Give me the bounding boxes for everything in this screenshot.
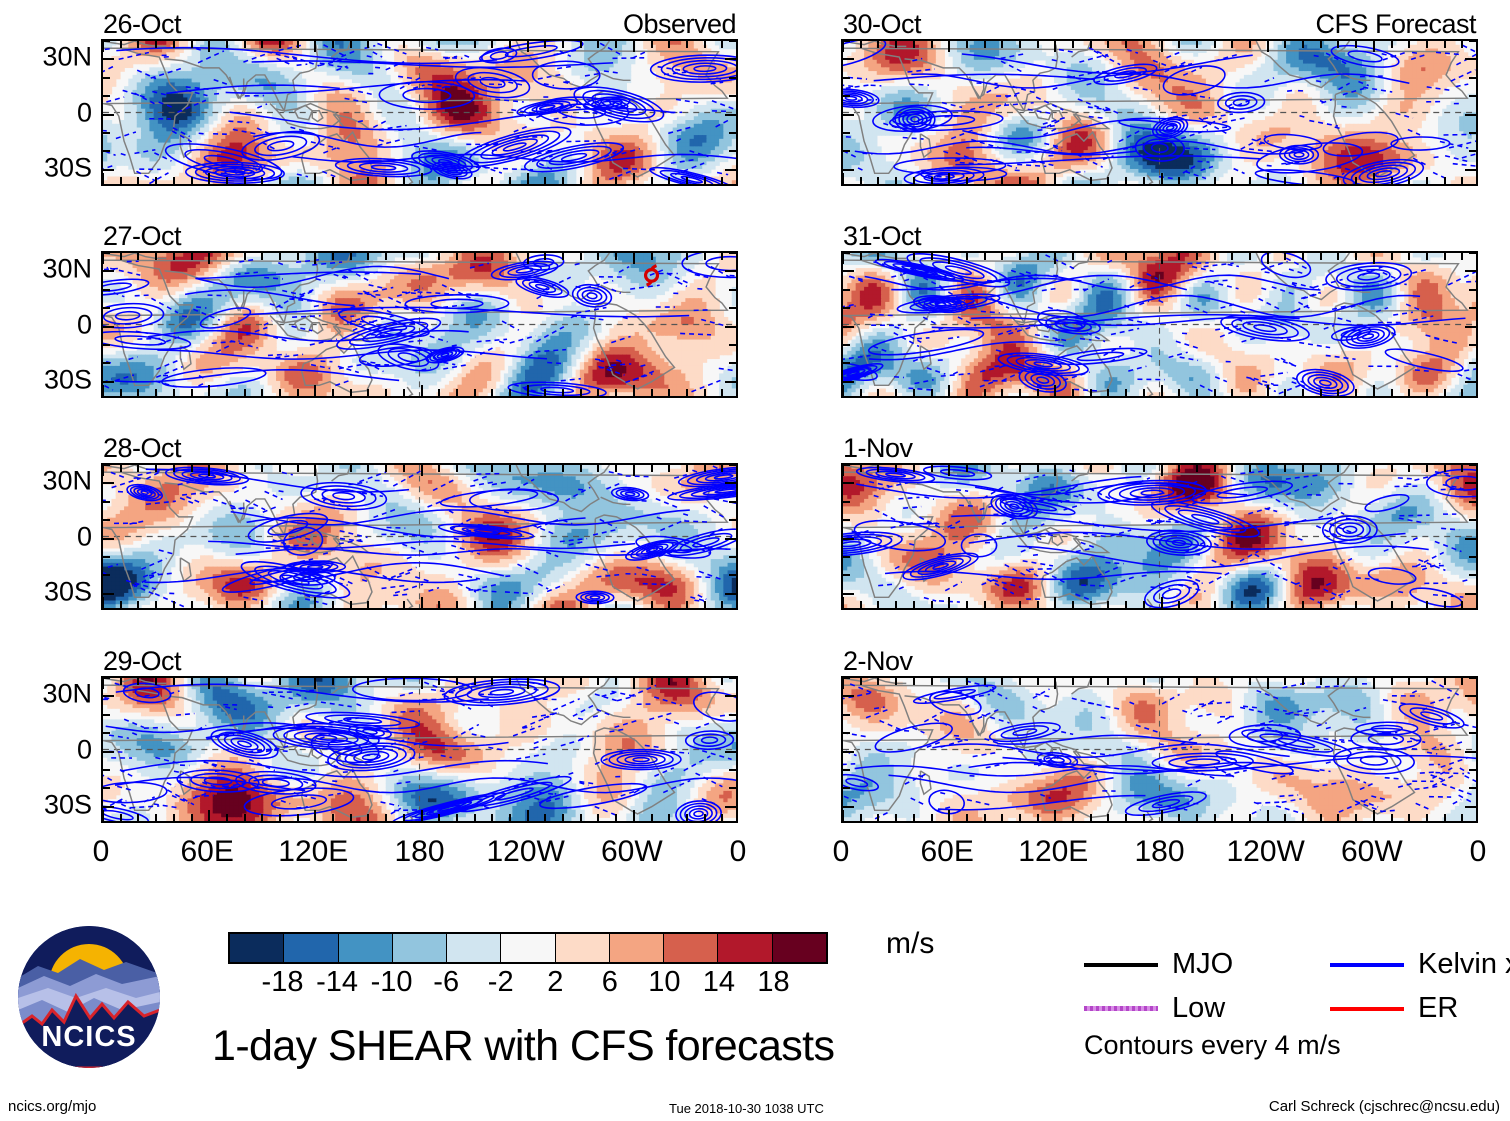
panel-date-label: 1-Nov [843,433,913,464]
y-tick-label: 30S [44,789,92,820]
x-tick-label: 0 [93,835,110,869]
x-tick-label: 120E [278,835,348,869]
legend-label: ER [1418,992,1458,1025]
panel-field [103,253,736,396]
colorbar-tick-label: -10 [371,966,413,999]
x-tick-label: 180 [1134,835,1184,869]
legend-item-low: Low [1084,992,1225,1025]
panel-field [103,41,736,184]
panel-map[interactable] [101,463,738,610]
colorbar-tick-label: 10 [648,966,680,999]
panel-date-label: 28-Oct [103,433,181,464]
y-tick-label: 30S [44,576,92,607]
y-tick-label: 0 [77,734,92,765]
x-tick-label: 60E [920,835,973,869]
footer-timestamp: Tue 2018-10-30 1038 UTC [669,1101,824,1116]
legend-label: Kelvin x2 [1418,948,1510,981]
colorbar-segment-5 [501,934,555,962]
colorbar-segment-2 [339,934,393,962]
colorbar-tick-label: 2 [547,966,563,999]
colorbar-tick-label: -2 [488,966,514,999]
legend-item-er: ER [1330,992,1458,1025]
y-tick-label: 0 [77,309,92,340]
panel-map[interactable] [841,251,1478,398]
colorbar-segment-10 [773,934,826,962]
panel-map[interactable] [101,676,738,823]
panel-date-label: 30-Oct [843,9,921,40]
colorbar-tick-label: -6 [433,966,459,999]
panel-2-nov[interactable]: 2-Nov 060E120E180120W60W0 [841,676,1478,823]
x-tick-label: 120W [1227,835,1305,869]
colorbar-segment-4 [447,934,501,962]
y-tick-label: 30S [44,152,92,183]
x-tick-label: 0 [833,835,850,869]
legend-line-swatch [1330,1007,1404,1011]
panel-field [843,41,1476,184]
panel-map[interactable] [841,39,1478,186]
colorbar-tick-label: 6 [602,966,618,999]
x-tick-label: 120E [1018,835,1088,869]
panel-field [103,465,736,608]
panel-source-label: CFS Forecast [1315,9,1476,40]
colorbar-segment-3 [393,934,447,962]
y-tick-label: 0 [77,97,92,128]
panel-field [843,678,1476,821]
legend-line-swatch [1084,963,1158,967]
panel-date-label: 31-Oct [843,221,921,252]
legend-line-swatch [1084,1006,1158,1011]
page-title: 1-day SHEAR with CFS forecasts [212,1022,834,1071]
legend-label: Low [1172,992,1225,1025]
contour-interval-note: Contours every 4 m/s [1084,1030,1341,1061]
colorbar-tick-label: -14 [316,966,358,999]
x-tick-label: 120W [487,835,565,869]
legend-label: MJO [1172,948,1233,981]
panel-date-label: 26-Oct [103,9,181,40]
colorbar [228,932,828,964]
ncics-logo: NCICS [18,926,160,1068]
panel-26-oct[interactable]: 26-Oct Observed 30N030S [101,39,738,186]
legend-item-kelvin-x2: Kelvin x2 [1330,948,1510,981]
y-tick-label: 30S [44,364,92,395]
panel-27-oct[interactable]: 27-Oct 30N030S [101,251,738,398]
footer-link[interactable]: ncics.org/mjo [8,1098,96,1115]
colorbar-segment-8 [664,934,718,962]
panel-map[interactable] [841,676,1478,823]
panel-date-label: 29-Oct [103,646,181,677]
y-tick-label: 30N [42,42,92,73]
panel-field [843,465,1476,608]
colorbar-units-label: m/s [886,927,934,961]
panel-field [103,678,736,821]
panel-source-label: Observed [623,9,736,40]
legend-line-swatch [1330,963,1404,967]
panel-date-label: 27-Oct [103,221,181,252]
panel-map[interactable] [841,463,1478,610]
colorbar-segment-1 [284,934,338,962]
x-tick-label: 180 [394,835,444,869]
x-tick-label: 60W [601,835,663,869]
x-tick-label: 60E [180,835,233,869]
panel-field [843,253,1476,396]
colorbar-tick-label: 14 [703,966,735,999]
logo-text: NCICS [18,1021,160,1054]
panel-30-oct[interactable]: 30-Oct CFS Forecast [841,39,1478,186]
footer-author: Carl Schreck (cjschrec@ncsu.edu) [1269,1098,1500,1115]
y-tick-label: 30N [42,466,92,497]
panel-29-oct[interactable]: 29-Oct 30N030S060E120E180120W60W0 [101,676,738,823]
panel-map[interactable] [101,39,738,186]
panel-map[interactable] [101,251,738,398]
y-tick-label: 30N [42,254,92,285]
colorbar-segment-6 [556,934,610,962]
colorbar-segment-7 [610,934,664,962]
colorbar-tick-label: -18 [262,966,304,999]
colorbar-segment-0 [230,934,284,962]
panel-31-oct[interactable]: 31-Oct [841,251,1478,398]
y-tick-label: 30N [42,679,92,710]
x-tick-label: 0 [1470,835,1487,869]
panel-28-oct[interactable]: 28-Oct 30N030S [101,463,738,610]
colorbar-tick-label: 18 [757,966,789,999]
x-tick-label: 0 [730,835,747,869]
y-tick-label: 0 [77,521,92,552]
colorbar-segment-9 [718,934,772,962]
panel-date-label: 2-Nov [843,646,913,677]
x-tick-label: 60W [1341,835,1403,869]
legend-item-mjo: MJO [1084,948,1233,981]
panel-1-nov[interactable]: 1-Nov [841,463,1478,610]
